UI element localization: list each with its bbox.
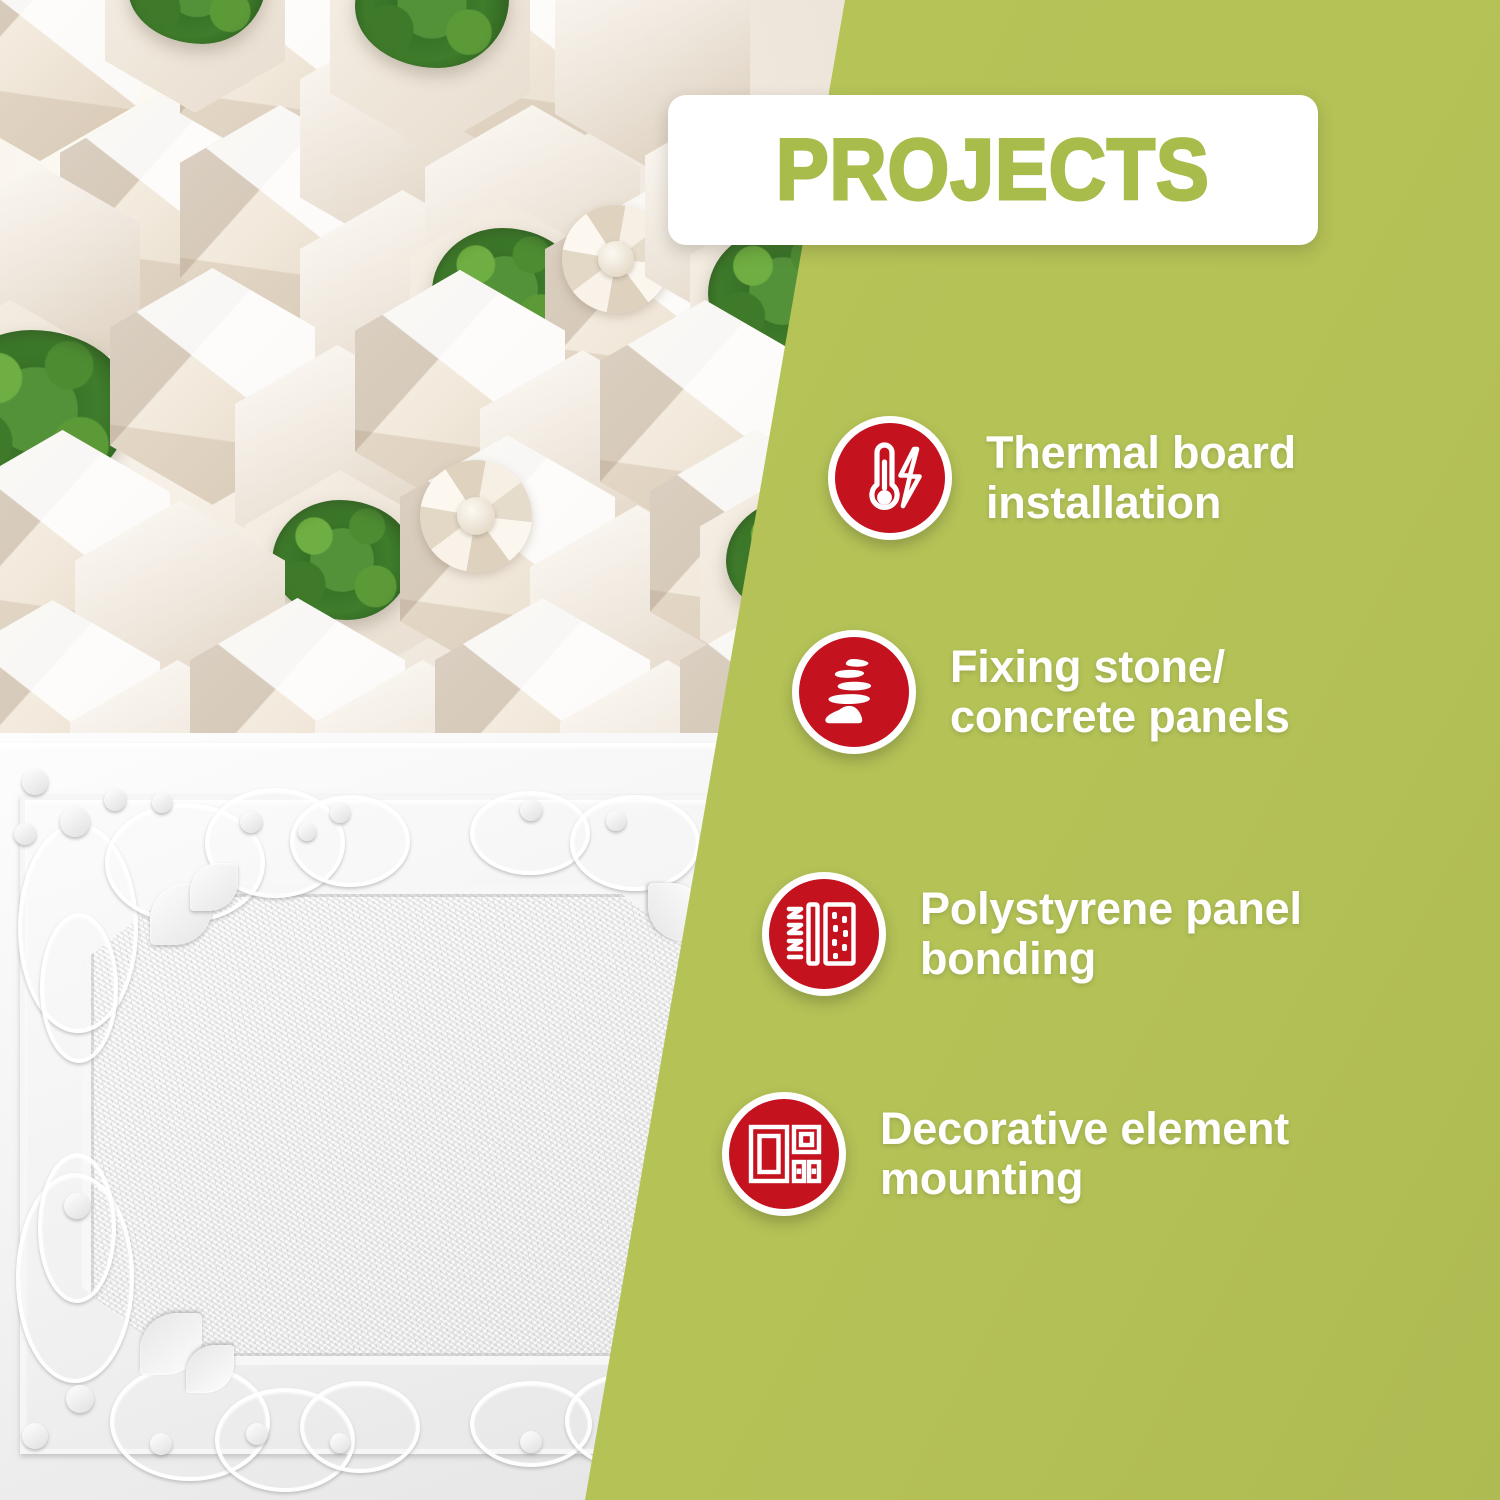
feature-label: Decorative element mounting bbox=[880, 1104, 1289, 1205]
feature-item-decorative-mounting[interactable]: Decorative element mounting bbox=[722, 1092, 1289, 1216]
polystyrene-panel-icon bbox=[762, 872, 886, 996]
poster-canvas: PROJECTS Thermal board installation bbox=[0, 0, 1500, 1500]
feature-label: Thermal board installation bbox=[986, 428, 1296, 529]
feature-list: Thermal board installation Fixing stone/… bbox=[0, 0, 1500, 1500]
decorative-frames-icon bbox=[722, 1092, 846, 1216]
feature-item-polystyrene-bonding[interactable]: Polystyrene panel bonding bbox=[762, 872, 1302, 996]
feature-label: Polystyrene panel bonding bbox=[920, 884, 1302, 985]
thermometer-bolt-icon bbox=[828, 416, 952, 540]
feature-label: Fixing stone/ concrete panels bbox=[950, 642, 1290, 743]
feature-item-fixing-stone[interactable]: Fixing stone/ concrete panels bbox=[792, 630, 1290, 754]
feature-item-thermal-board[interactable]: Thermal board installation bbox=[828, 416, 1296, 540]
stacked-stones-icon bbox=[792, 630, 916, 754]
